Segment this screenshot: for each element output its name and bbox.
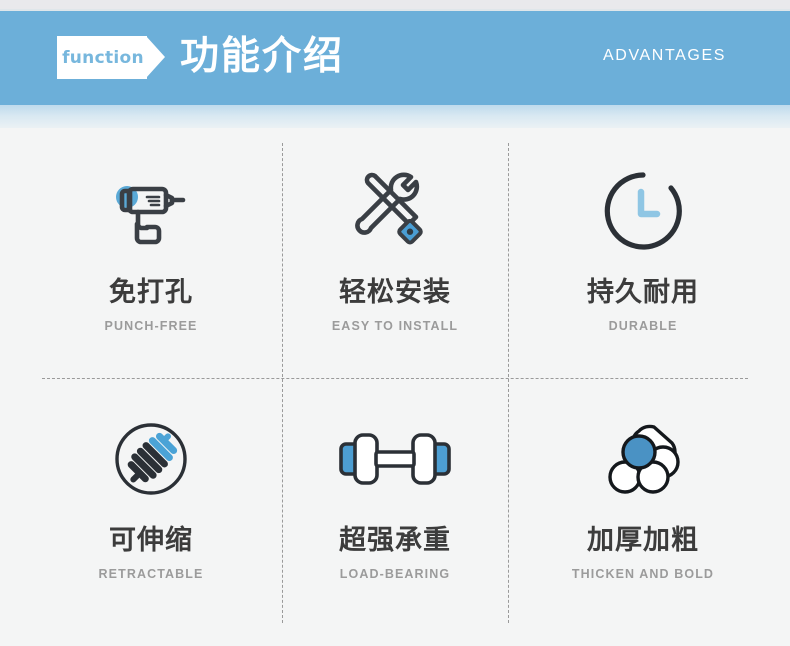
feature-item-punch-free: 免打孔 PUNCH-FREE (38, 160, 264, 333)
feature-title-cn: 持久耐用 (530, 276, 756, 310)
grid-divider-vertical-2 (508, 143, 509, 623)
feature-title-en: PUNCH-FREE (38, 319, 264, 333)
page-subtitle: ADVANTAGES (603, 47, 726, 65)
feature-title-en: LOAD-BEARING (282, 567, 508, 581)
feature-title-en: DURABLE (530, 319, 756, 333)
spring-icon (38, 408, 264, 510)
feature-item-easy-install: 轻松安装 EASY TO INSTALL (282, 160, 508, 333)
pipes-icon (530, 408, 756, 510)
feature-item-retractable: 可伸缩 RETRACTABLE (38, 408, 264, 581)
page-title: 功能介绍 (180, 29, 344, 85)
header-glow (0, 104, 790, 128)
function-badge: function (57, 36, 165, 79)
feature-title-en: RETRACTABLE (38, 567, 264, 581)
feature-item-thicken-bold: 加厚加粗 THICKEN AND BOLD (530, 408, 756, 581)
feature-title-cn: 超强承重 (282, 524, 508, 558)
feature-title-cn: 轻松安装 (282, 276, 508, 310)
grid-divider-horizontal (42, 378, 748, 379)
tools-icon (282, 160, 508, 262)
feature-title-en: EASY TO INSTALL (282, 319, 508, 333)
feature-title-cn: 可伸缩 (38, 524, 264, 558)
badge-label: function (57, 36, 149, 79)
feature-item-load-bearing: 超强承重 LOAD-BEARING (282, 408, 508, 581)
drill-icon (38, 160, 264, 262)
feature-title-cn: 免打孔 (38, 276, 264, 310)
feature-item-durable: 持久耐用 DURABLE (530, 160, 756, 333)
feature-title-en: THICKEN AND BOLD (530, 567, 756, 581)
clock-icon (530, 160, 756, 262)
dumbbell-icon (282, 408, 508, 510)
page-header: function 功能介绍 ADVANTAGES (0, 0, 790, 128)
feature-grid: 免打孔 PUNCH-FREE 轻松安装 EASY TO INSTALL (0, 128, 790, 646)
feature-title-cn: 加厚加粗 (530, 524, 756, 558)
